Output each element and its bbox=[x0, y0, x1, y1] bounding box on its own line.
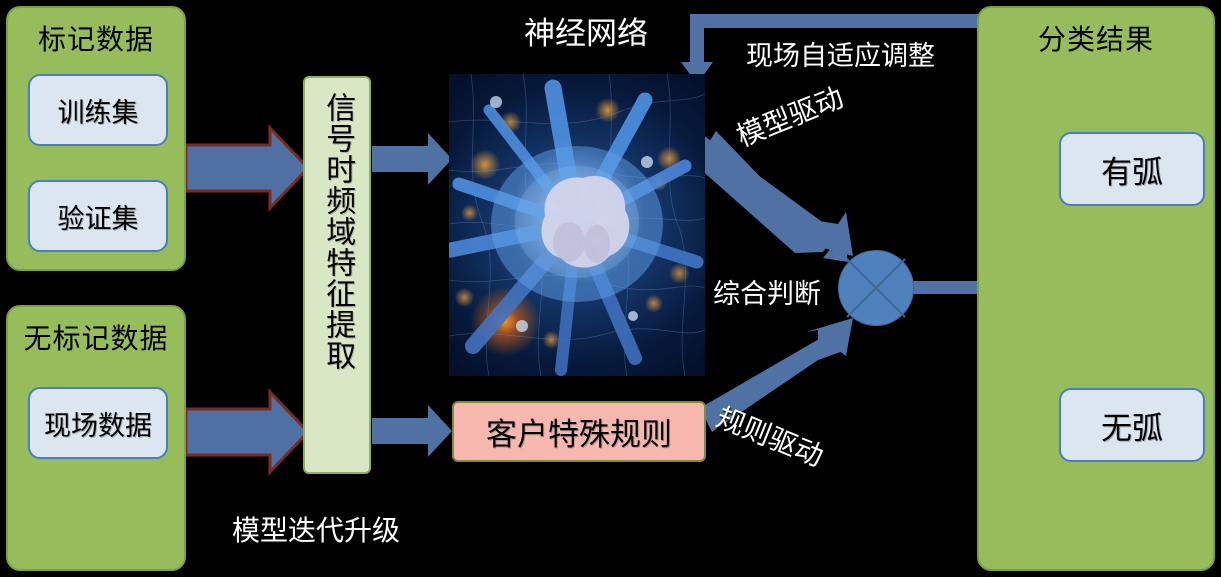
customer-rule-box[interactable]: 客户特殊规则 bbox=[452, 401, 706, 462]
arrow-model-driven-head bbox=[806, 212, 853, 256]
process-feature-extraction-label: 信号时频域特征提取 bbox=[322, 92, 353, 371]
junction-node[interactable] bbox=[838, 250, 914, 326]
group-classification-result-title: 分类结果 bbox=[979, 18, 1213, 58]
process-feature-extraction[interactable]: 信号时频域特征提取 bbox=[303, 76, 371, 474]
sub-box-validation-set[interactable]: 验证集 bbox=[28, 180, 168, 252]
sub-box-field-data[interactable]: 现场数据 bbox=[28, 387, 168, 459]
diagram-canvas: 标记数据 训练集 验证集 无标记数据 现场数据 信号时频域特征提取 神经网络 bbox=[0, 0, 1221, 577]
arrow-model-driven-body bbox=[690, 135, 836, 253]
arrow-labeled-to-features bbox=[186, 128, 308, 208]
group-labeled-data-title: 标记数据 bbox=[8, 18, 184, 58]
group-classification-result: 分类结果 有弧 无弧 bbox=[977, 6, 1215, 571]
sub-box-arc-present[interactable]: 有弧 bbox=[1059, 132, 1205, 206]
group-unlabeled-data-title: 无标记数据 bbox=[8, 317, 184, 357]
label-model-iterative-upgrade: 模型迭代升级 bbox=[232, 509, 400, 549]
label-field-adaptive-tuning: 现场自适应调整 bbox=[746, 34, 935, 73]
arrow-features-to-rule bbox=[372, 405, 452, 457]
label-model-driven: 模型驱动 bbox=[730, 76, 849, 155]
junction-cross-icon bbox=[839, 251, 913, 325]
arrow-features-to-nn bbox=[372, 133, 452, 185]
arrow-model-driven bbox=[705, 131, 848, 262]
arrow-unlabeled-to-features bbox=[186, 392, 308, 472]
group-labeled-data: 标记数据 训练集 验证集 bbox=[6, 6, 186, 271]
label-rule-driven: 规则驱动 bbox=[711, 396, 830, 475]
group-unlabeled-data: 无标记数据 现场数据 bbox=[6, 305, 186, 571]
arrow-feedback-vertical bbox=[690, 14, 704, 66]
neural-network-image bbox=[449, 74, 705, 376]
neural-network-title: 神经网络 bbox=[524, 8, 648, 53]
arrow-feedback-horizontal bbox=[690, 14, 1000, 28]
sub-box-training-set[interactable]: 训练集 bbox=[28, 74, 168, 146]
label-comprehensive-judgement: 综合判断 bbox=[713, 272, 821, 311]
sub-box-arc-absent[interactable]: 无弧 bbox=[1059, 388, 1205, 462]
